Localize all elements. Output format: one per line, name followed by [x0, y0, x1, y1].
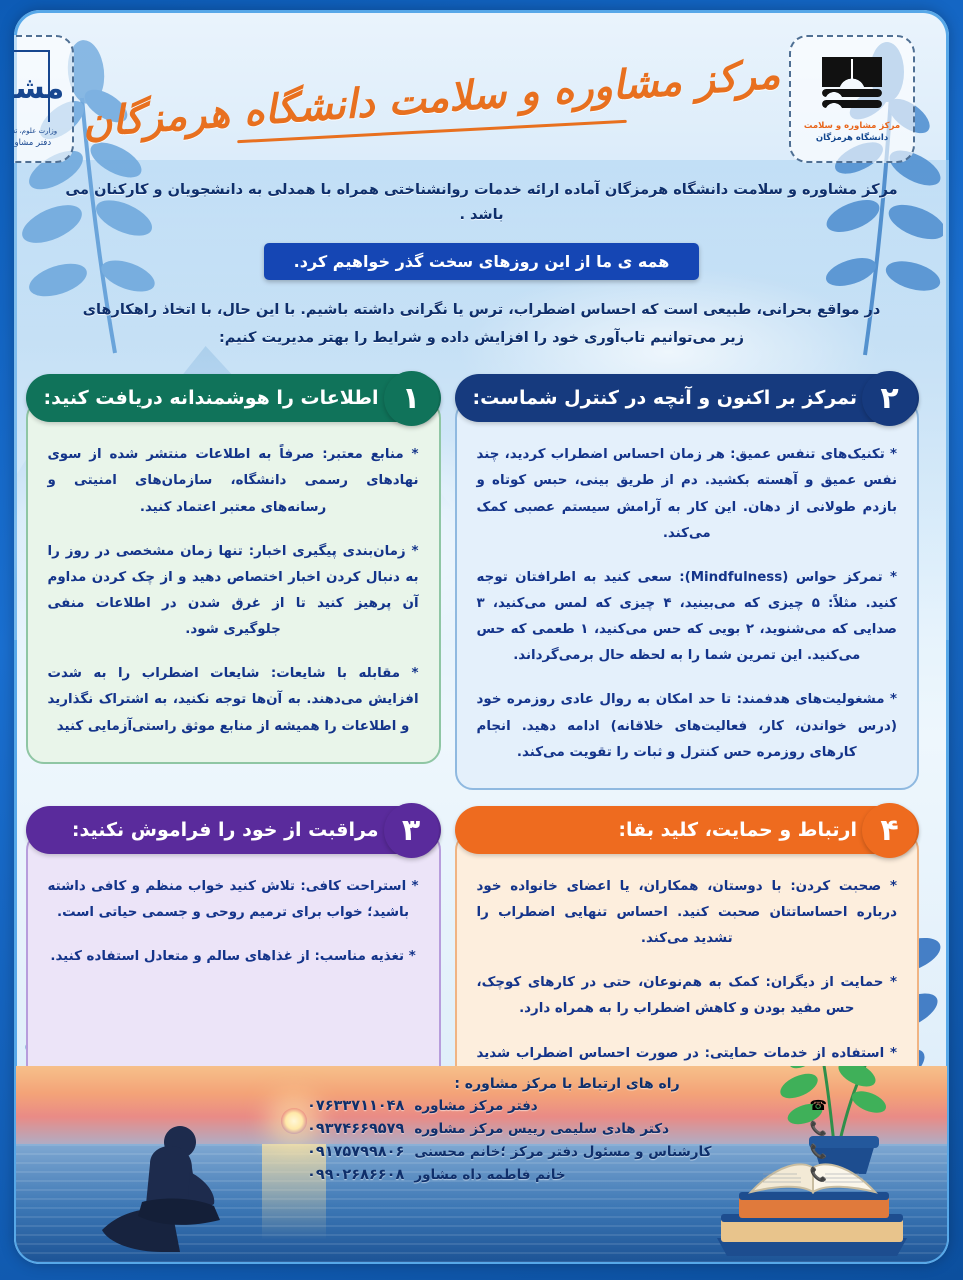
contact-number[interactable]: ۰۷۶۳۳۷۱۱۰۴۸	[307, 1098, 404, 1114]
title-block: مرکز مشاوره و سلامت دانشگاه هرمزگان	[74, 74, 789, 133]
consulting-center-logo: مرکز مشاوره و سلامت دانشگاه هرمزگان	[789, 35, 915, 163]
tip-card-4-title: ارتباط و حمایت، کلید بقا:	[618, 819, 857, 841]
tip-card-3-header: ۳ مراقبت از خود را فراموش نکنید:	[26, 806, 441, 854]
sun-icon	[281, 1108, 307, 1134]
tip-card-1: ۱ اطلاعات را هوشمندانه دریافت کنید: * من…	[26, 374, 441, 763]
footer-contact-section: راه های ارتباط با مرکز مشاوره : ☎ دفتر م…	[16, 1066, 947, 1262]
tip-bullet: * تغذیه مناسب: از غذاهای سالم و متعادل ا…	[48, 944, 419, 970]
tip-card-1-body: * منابع معتبر: صرفاً به اطلاعات منتشر شد…	[26, 400, 441, 763]
poster-header: مرکز مشاوره و سلامت دانشگاه هرمزگان مرکز…	[14, 10, 949, 178]
open-book-icon	[822, 57, 882, 87]
ministry-caption-top: وزارت علوم، تحقیقات و فناوری	[14, 127, 57, 135]
contact-name: دکتر هادی سلیمی رییس مرکز مشاوره	[414, 1121, 669, 1137]
tip-card-2-title: تمرکز بر اکنون و آنچه در کنترل شماست:	[473, 387, 857, 409]
tip-bullet: * استراحت کافی: تلاش کنید خواب منظم و کا…	[48, 874, 419, 926]
contact-row[interactable]: 📞 کارشناس و مسئول دفتر مرکز ؛خانم محسنی …	[307, 1144, 827, 1160]
tip-card-2-body: * تکنیک‌های تنفس عمیق: هر زمان احساس اضط…	[455, 400, 919, 790]
wave-icon	[822, 89, 882, 115]
tip-card-2-header: ۲ تمرکز بر اکنون و آنچه در کنترل شماست:	[455, 374, 919, 422]
phone-icon: 📞	[810, 1145, 827, 1159]
phone-icon: 📞	[810, 1122, 827, 1136]
tip-bullet: * تکنیک‌های تنفس عمیق: هر زمان احساس اضط…	[477, 442, 897, 547]
tip-bullet: * مقابله با شایعات: شایعات اضطراب را به …	[48, 661, 419, 739]
contact-number[interactable]: ۰۹۹۰۲۶۸۶۶۰۸	[307, 1167, 404, 1183]
ministry-caption-bottom: دفتر مشاوره و سلامت	[14, 138, 51, 148]
contact-row[interactable]: ☎ دفتر مرکز مشاوره ۰۷۶۳۳۷۱۱۰۴۸	[307, 1098, 827, 1114]
contact-list-title: راه های ارتباط با مرکز مشاوره :	[307, 1076, 827, 1092]
intro-paragraph: در مواقع بحرانی، طبیعی است که احساس اضطر…	[82, 296, 882, 353]
tip-card-1-title: اطلاعات را هوشمندانه دریافت کنید:	[44, 387, 379, 409]
logo-caption-bottom: دانشگاه هرمزگان	[816, 133, 888, 143]
ministry-calligraphy-icon: مشاوره	[14, 50, 50, 122]
contact-number[interactable]: ۰۹۱۷۵۷۹۹۸۰۶	[307, 1144, 404, 1160]
tip-card-1-header: ۱ اطلاعات را هوشمندانه دریافت کنید:	[26, 374, 441, 422]
contact-number[interactable]: ۰۹۳۷۴۶۶۹۵۷۹	[307, 1121, 404, 1137]
tip-bullet: * صحبت کردن: با دوستان، همکاران، یا اعضا…	[477, 874, 897, 952]
tip-bullet: * مشغولیت‌های هدفمند: تا حد امکان به روا…	[477, 687, 897, 765]
phone-icon: 📞	[810, 1168, 827, 1182]
tip-bullet: * حمایت از دیگران: کمک به هم‌نوعان، حتی …	[477, 970, 897, 1022]
tip-card-2: ۲ تمرکز بر اکنون و آنچه در کنترل شماست: …	[455, 374, 919, 790]
tips-grid: ۲ تمرکز بر اکنون و آنچه در کنترل شماست: …	[14, 352, 949, 1143]
book-wave-icon	[821, 56, 883, 116]
poster-root: مرکز مشاوره و سلامت دانشگاه هرمزگان مرکز…	[0, 0, 963, 1280]
intro-line: مرکز مشاوره و سلامت دانشگاه هرمزگان آماد…	[62, 178, 901, 229]
contact-row[interactable]: 📞 دکتر هادی سلیمی رییس مرکز مشاوره ۰۹۳۷۴…	[307, 1121, 827, 1137]
tip-card-3: ۳ مراقبت از خود را فراموش نکنید: * استرا…	[26, 806, 441, 1104]
tip-card-4-header: ۴ ارتباط و حمایت، کلید بقا:	[455, 806, 919, 854]
tip-card-2-number: ۲	[862, 371, 917, 426]
logo-caption-top: مرکز مشاوره و سلامت	[804, 121, 900, 131]
contact-list: راه های ارتباط با مرکز مشاوره : ☎ دفتر م…	[307, 1076, 827, 1190]
contact-name: دفتر مرکز مشاوره	[414, 1098, 537, 1114]
tip-card-4-number: ۴	[862, 803, 917, 858]
contact-name: خانم فاطمه داه مشاور	[414, 1167, 565, 1183]
tip-bullet: * تمرکز حواس (Mindfulness): سعی کنید به …	[477, 565, 897, 670]
contact-row[interactable]: 📞 خانم فاطمه داه مشاور ۰۹۹۰۲۶۸۶۶۰۸	[307, 1167, 827, 1183]
tip-bullet: * منابع معتبر: صرفاً به اطلاعات منتشر شد…	[48, 442, 419, 520]
contact-name: کارشناس و مسئول دفتر مرکز ؛خانم محسنی	[414, 1144, 711, 1160]
telephone-icon: ☎	[810, 1099, 827, 1113]
tip-card-1-number: ۱	[384, 371, 439, 426]
tip-bullet: * زمان‌بندی پیگیری اخبار: تنها زمان مشخص…	[48, 539, 419, 644]
ministry-logo: مشاوره وزارت علوم، تحقیقات و فناوری دفتر…	[14, 35, 74, 163]
highlight-banner: همه ی ما از این روزهای سخت گذر خواهیم کر…	[264, 243, 700, 280]
person-silhouette-icon	[102, 1102, 272, 1252]
tip-card-3-number: ۳	[384, 803, 439, 858]
tip-card-3-body: * استراحت کافی: تلاش کنید خواب منظم و کا…	[26, 832, 441, 1104]
intro-section: مرکز مشاوره و سلامت دانشگاه هرمزگان آماد…	[14, 178, 949, 352]
tip-card-3-title: مراقبت از خود را فراموش نکنید:	[72, 819, 379, 841]
